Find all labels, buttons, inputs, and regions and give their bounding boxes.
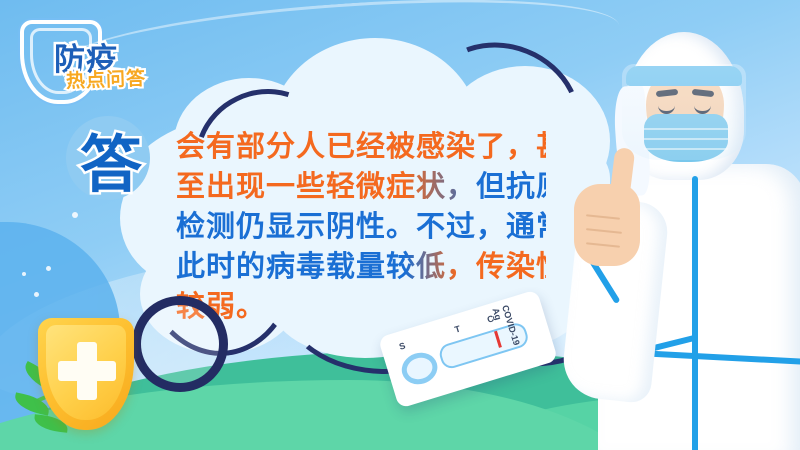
sparkle-dot [72, 212, 78, 218]
answer-line: 至出现一些轻微症状，但抗原 [176, 166, 546, 206]
medical-worker-illustration [576, 24, 800, 450]
answer-line: 检测仍显示阴性。不过，通常 [176, 206, 546, 246]
face-shield [622, 64, 746, 160]
medical-cross-icon [58, 361, 116, 381]
answer-text-block: 会有部分人已经被感染了，甚 至出现一些轻微症状，但抗原 检测仍显示阴性。不过，通… [176, 126, 546, 326]
sparkle-dot [46, 266, 51, 271]
answer-badge-label: 答 [68, 116, 154, 202]
poster-canvas: 答 会有部分人已经被感染了，甚 至出现一些轻微症状，但抗原 检测仍显示阴性。不过… [0, 0, 800, 450]
answer-line: 此时的病毒载量较低，传染性 [176, 246, 546, 286]
sparkle-dot [34, 292, 39, 297]
ppe-seam-vertical [692, 176, 698, 450]
sparkle-dot [22, 272, 26, 276]
medical-shield-icon [38, 318, 134, 430]
logo-title-secondary: 热点问答 [66, 64, 147, 94]
program-logo: 防疫 热点问答 [14, 18, 164, 100]
answer-line: 会有部分人已经被感染了，甚 [176, 126, 546, 166]
worker-hand [574, 184, 640, 266]
magnifier-icon [132, 296, 228, 392]
